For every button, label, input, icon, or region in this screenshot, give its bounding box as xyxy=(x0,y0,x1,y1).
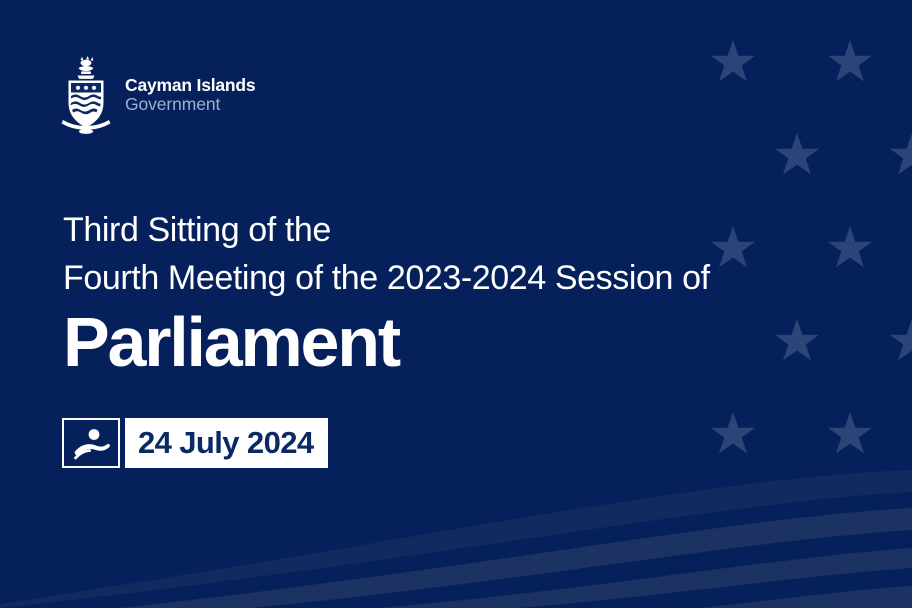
star-icon xyxy=(775,133,819,174)
date-icon-container xyxy=(62,418,120,468)
date-value: 24 July 2024 xyxy=(125,418,328,468)
logo-organisation-subtitle: Government xyxy=(125,95,255,114)
star-icon xyxy=(711,226,755,267)
headline-block: Third Sitting of the Fourth Meeting of t… xyxy=(63,206,710,378)
parliament-sitting-banner: Cayman Islands Government Third Sitting … xyxy=(0,0,912,608)
star-icon xyxy=(890,133,912,174)
hand-holding-person-icon xyxy=(71,426,111,460)
star-icon xyxy=(890,319,912,360)
star-icon xyxy=(775,319,819,360)
star-icon xyxy=(828,226,872,267)
date-badge: 24 July 2024 xyxy=(62,418,328,468)
cayman-islands-coat-of-arms-icon xyxy=(60,56,112,134)
logo-organisation-name: Cayman Islands xyxy=(125,76,255,95)
star-icon xyxy=(828,412,872,453)
cayman-islands-government-logo: Cayman Islands Government xyxy=(60,56,255,134)
star-icon xyxy=(711,40,755,81)
eyebrow-line-2: Fourth Meeting of the 2023-2024 Session … xyxy=(63,254,710,302)
star-icon xyxy=(828,40,872,81)
eyebrow-line-1: Third Sitting of the xyxy=(63,206,710,254)
arc-group xyxy=(0,470,912,608)
star-icon xyxy=(711,412,755,453)
page-title: Parliament xyxy=(63,307,710,378)
